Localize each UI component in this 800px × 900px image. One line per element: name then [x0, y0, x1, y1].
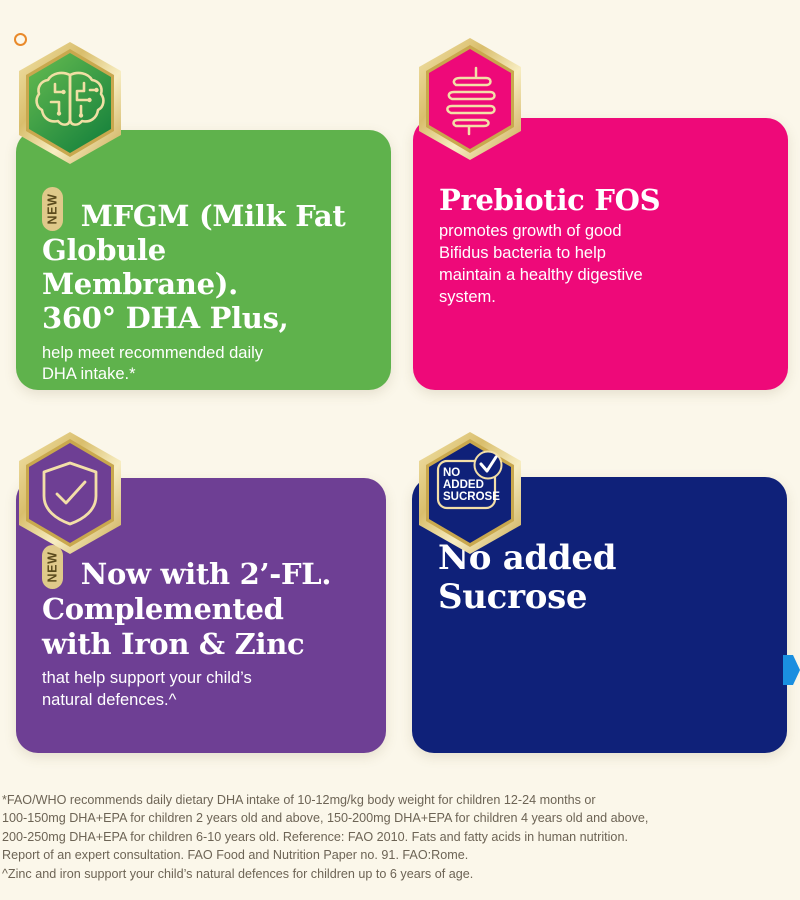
seal-line-sucrose: SUCROSE [443, 491, 500, 503]
seal-line-no: NO [443, 467, 460, 479]
headline-line: Globule Membrane). [42, 233, 238, 301]
card-content-mfgm: NEW MFGM (Milk Fat Globule Membrane). 36… [16, 130, 391, 390]
subtext-line: promotes growth of good [439, 222, 622, 240]
card-subtext-mfgm: help meet recommended daily DHA intake.* [42, 343, 365, 386]
headline-line: MFGM (Milk Fat [81, 199, 346, 233]
seal-line-added: ADDED [443, 479, 484, 491]
feature-card-mfgm[interactable]: NEW MFGM (Milk Fat Globule Membrane). 36… [16, 130, 391, 390]
shield-check-icon [14, 430, 126, 556]
brain-circuit-icon [14, 40, 126, 166]
headline-line: Complemented [42, 592, 284, 626]
footnotes: *FAO/WHO recommends daily dietary DHA in… [0, 791, 800, 883]
subtext-line: system. [439, 288, 496, 306]
footnote-zinc: ^Zinc and iron support your child’s natu… [2, 865, 794, 883]
card-subtext-fos: promotes growth of good Bifidus bacteria… [439, 220, 762, 308]
card-headline-fl: NEW Now with 2’-FL. Complemented with Ir… [42, 540, 360, 661]
blue-pointer-tab-icon [783, 655, 800, 685]
subtext-line: that help support your child’s [42, 669, 252, 687]
card-headline-mfgm: NEW MFGM (Milk Fat Globule Membrane). 36… [42, 182, 365, 336]
headline-line: Now with 2’-FL. [81, 557, 331, 591]
headline-line: Sucrose [438, 577, 587, 617]
card-subtext-fl: that help support your child’s natural d… [42, 668, 360, 711]
subtext-line: help meet recommended daily [42, 344, 263, 362]
headline-line: with Iron & Zinc [42, 627, 304, 661]
footnote-dha: *FAO/WHO recommends daily dietary DHA in… [2, 791, 794, 865]
subtext-line: Bifidus bacteria to help [439, 244, 606, 262]
new-badge-mfgm: NEW [42, 187, 63, 231]
headline-line: Prebiotic FOS [439, 183, 660, 217]
card-headline-fos: Prebiotic FOS [439, 184, 762, 218]
subtext-line: natural defences.^ [42, 691, 176, 709]
feature-card-grid: NEW MFGM (Milk Fat Globule Membrane). 36… [0, 0, 800, 790]
no-added-sucrose-seal-icon: NO ADDED SUCROSE [414, 430, 526, 556]
new-badge-label: NEW [45, 194, 60, 225]
subtext-line: DHA intake.* [42, 365, 136, 383]
intestine-icon [414, 36, 526, 162]
new-badge-label: NEW [45, 552, 60, 583]
subtext-line: maintain a healthy digestive [439, 266, 643, 284]
headline-line: 360° DHA Plus, [42, 301, 288, 335]
